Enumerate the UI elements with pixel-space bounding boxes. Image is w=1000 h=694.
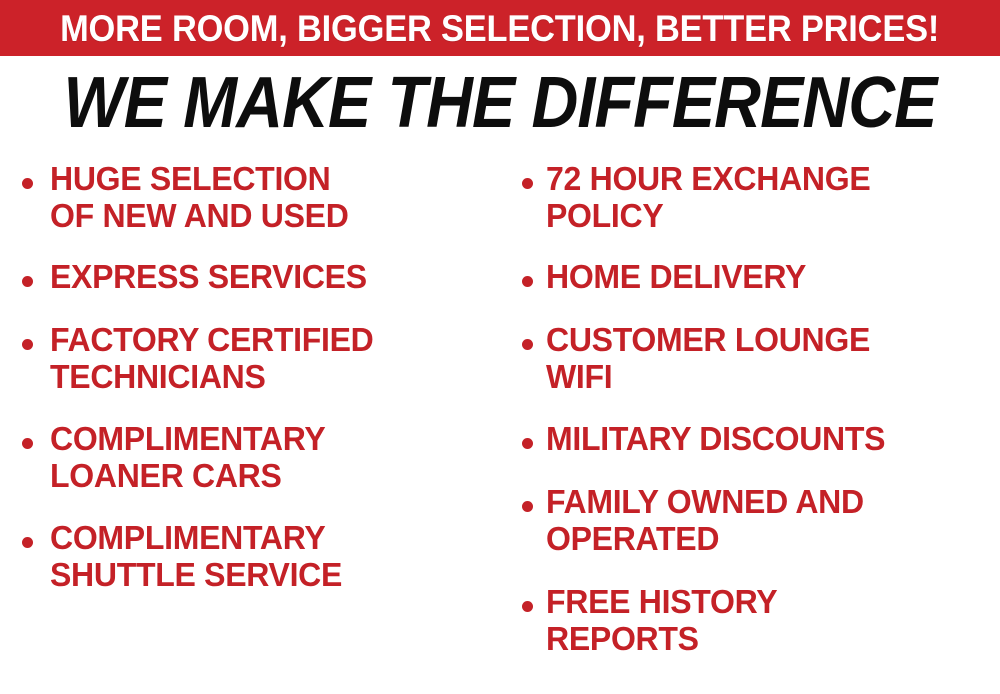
list-item-label: FAMILY OWNED AND OPERATED (546, 483, 986, 557)
list-item: COMPLIMENTARY SHUTTLE SERVICE (16, 519, 500, 593)
list-item: FACTORY CERTIFIED TECHNICIANS (16, 321, 500, 395)
headline-text: WE MAKE THE DIFFERENCE (63, 66, 936, 140)
list-item-label: HOME DELIVERY (546, 258, 986, 295)
list-item: HOME DELIVERY (516, 258, 1000, 295)
list-item-label: FACTORY CERTIFIED TECHNICIANS (50, 321, 487, 395)
list-item: FAMILY OWNED AND OPERATED (516, 483, 1000, 557)
bullet-dot-icon (522, 276, 533, 287)
promo-banner: MORE ROOM, BIGGER SELECTION, BETTER PRIC… (0, 0, 1000, 56)
benefits-column-left: HUGE SELECTION OF NEW AND USED EXPRESS S… (16, 160, 500, 604)
bullet-dot-icon (22, 276, 33, 287)
headline: WE MAKE THE DIFFERENCE (0, 66, 1000, 140)
benefits-columns: HUGE SELECTION OF NEW AND USED EXPRESS S… (0, 160, 1000, 680)
list-item-label: EXPRESS SERVICES (50, 258, 487, 295)
list-item-label: COMPLIMENTARY SHUTTLE SERVICE (50, 519, 487, 593)
promo-banner-text: MORE ROOM, BIGGER SELECTION, BETTER PRIC… (60, 10, 939, 47)
list-item-label: 72 HOUR EXCHANGE POLICY (546, 160, 986, 234)
list-item: EXPRESS SERVICES (16, 258, 500, 295)
list-item-label: FREE HISTORY REPORTS (546, 583, 986, 657)
list-item-label: COMPLIMENTARY LOANER CARS (50, 420, 487, 494)
list-item: MILITARY DISCOUNTS (516, 420, 1000, 457)
list-item: COMPLIMENTARY LOANER CARS (16, 420, 500, 494)
bullet-dot-icon (522, 501, 533, 512)
list-item: CUSTOMER LOUNGE WIFI (516, 321, 1000, 395)
bullet-dot-icon (522, 438, 533, 449)
list-item-label: CUSTOMER LOUNGE WIFI (546, 321, 986, 395)
bullet-dot-icon (22, 339, 33, 350)
benefits-column-right: 72 HOUR EXCHANGE POLICY HOME DELIVERY CU… (516, 160, 1000, 668)
bullet-dot-icon (522, 178, 533, 189)
bullet-dot-icon (22, 178, 33, 189)
bullet-dot-icon (22, 537, 33, 548)
list-item-label: HUGE SELECTION OF NEW AND USED (50, 160, 487, 234)
list-item-label: MILITARY DISCOUNTS (546, 420, 986, 457)
bullet-dot-icon (522, 601, 533, 612)
bullet-dot-icon (22, 438, 33, 449)
list-item: FREE HISTORY REPORTS (516, 583, 1000, 657)
list-item: 72 HOUR EXCHANGE POLICY (516, 160, 1000, 234)
list-item: HUGE SELECTION OF NEW AND USED (16, 160, 500, 234)
bullet-dot-icon (522, 339, 533, 350)
